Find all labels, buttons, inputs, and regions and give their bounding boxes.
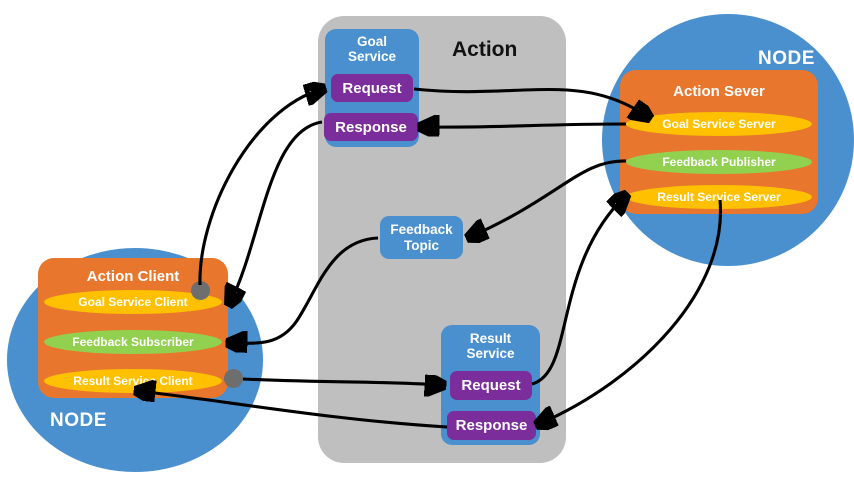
- goal-service-request-box[interactable]: Request: [331, 74, 413, 102]
- server-pill-goal-service-server[interactable]: Goal Service Server: [626, 112, 812, 136]
- result-service-title: Result Service: [441, 331, 540, 361]
- server-node-label: NODE: [758, 48, 815, 70]
- action-title: Action: [452, 38, 517, 62]
- goal-service-response-box[interactable]: Response: [324, 113, 418, 141]
- result-service-request-box[interactable]: Request: [450, 371, 532, 400]
- action-server-title: Action Sever: [620, 83, 818, 100]
- client-pill-feedback-subscriber[interactable]: Feedback Subscriber: [44, 330, 222, 354]
- client-node-label: NODE: [50, 410, 107, 432]
- client-pill-result-service-client[interactable]: Result Service Client: [44, 369, 222, 393]
- client-result-connector-dot: [224, 369, 243, 388]
- feedback-topic-box[interactable]: Feedback Topic: [380, 216, 463, 259]
- goal-service-title: Goal Service: [325, 34, 419, 64]
- arrow-goal-client-to-request: [200, 89, 322, 285]
- result-service-response-box[interactable]: Response: [447, 411, 536, 440]
- diagram-canvas: Action Client Goal Service Client Feedba…: [0, 0, 854, 480]
- arrow-goal-response-to-client: [230, 122, 322, 303]
- server-pill-feedback-publisher[interactable]: Feedback Publisher: [626, 150, 812, 174]
- server-pill-result-service-server[interactable]: Result Service Server: [626, 185, 812, 209]
- client-goal-connector-dot: [191, 281, 210, 300]
